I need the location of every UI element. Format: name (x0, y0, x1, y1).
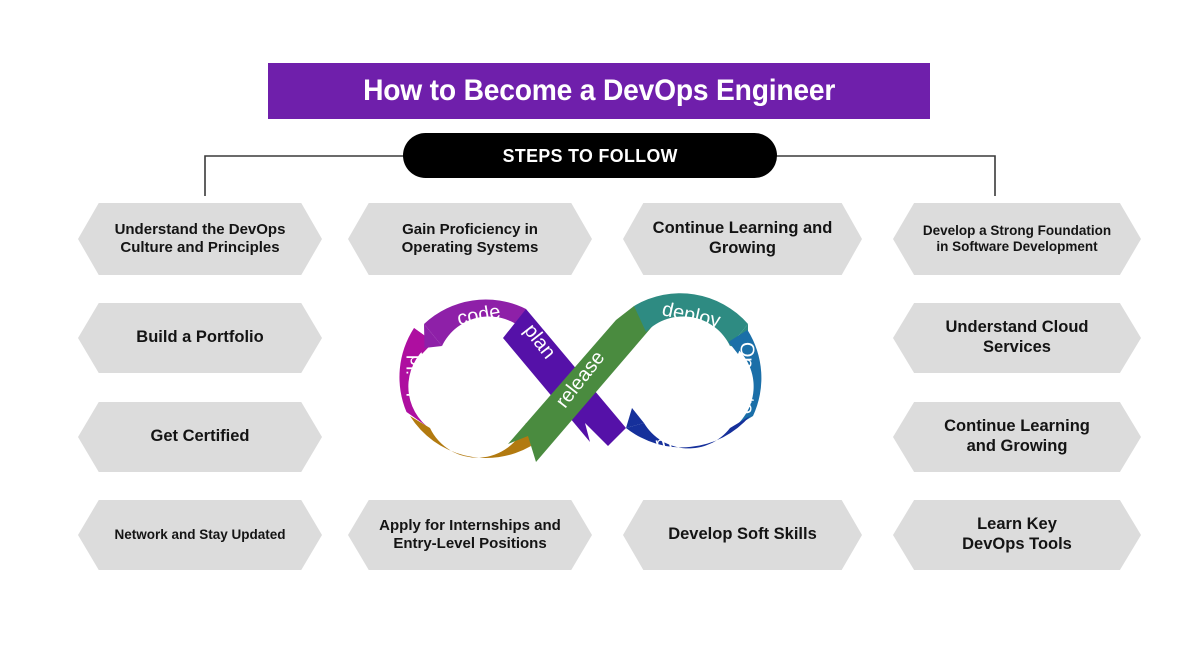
hexagon-develop-strong-foundation[interactable]: Develop a Strong Foundation in Software … (893, 203, 1141, 275)
hexagon-label: Learn Key DevOps Tools (962, 515, 1072, 555)
hexagon-continue-learning-growing-top[interactable]: Continue Learning and Growing (623, 203, 862, 275)
hexagon-understand-cloud-services[interactable]: Understand Cloud Services (893, 303, 1141, 373)
hexagon-understand-devops-culture[interactable]: Understand the DevOps Culture and Princi… (78, 203, 322, 275)
loop-label-operate: Operate (736, 342, 758, 414)
loop-segment-monitor: monitor (626, 408, 750, 456)
steps-to-follow-label: STEPS TO FOLLOW (502, 145, 677, 167)
hexagon-label: Develop a Strong Foundation in Software … (923, 223, 1111, 255)
connector-line-left (205, 156, 420, 196)
hexagon-continue-learning-growing-right[interactable]: Continue Learning and Growing (893, 402, 1141, 472)
hexagon-label: Gain Proficiency in Operating Systems (402, 221, 539, 257)
loop-label-monitor: monitor (653, 418, 723, 456)
steps-to-follow-pill: STEPS TO FOLLOW (403, 133, 777, 178)
hexagon-network-stay-updated[interactable]: Network and Stay Updated (78, 500, 322, 570)
page-title: How to Become a DevOps Engineer (363, 74, 835, 108)
hexagon-label: Get Certified (150, 427, 249, 447)
hexagon-gain-proficiency-os[interactable]: Gain Proficiency in Operating Systems (348, 203, 592, 275)
title-banner: How to Become a DevOps Engineer (268, 63, 930, 119)
hexagon-label: Apply for Internships and Entry-Level Po… (379, 517, 561, 553)
hexagon-label: Understand Cloud Services (946, 318, 1089, 358)
hexagon-label: Continue Learning and Growing (944, 417, 1090, 457)
hexagon-build-a-portfolio[interactable]: Build a Portfolio (78, 303, 322, 373)
hexagon-develop-soft-skills[interactable]: Develop Soft Skills (623, 500, 862, 570)
hexagon-label: Build a Portfolio (136, 328, 263, 348)
hexagon-label: Network and Stay Updated (114, 527, 285, 543)
hexagon-learn-key-devops-tools[interactable]: Learn Key DevOps Tools (893, 500, 1141, 570)
devops-infinity-loop: build code test plan release (376, 276, 784, 476)
hexagon-apply-internships[interactable]: Apply for Internships and Entry-Level Po… (348, 500, 592, 570)
loop-label-test: test (463, 427, 497, 452)
loop-segment-operate: Operate (729, 330, 762, 428)
loop-segment-deploy: deploy (634, 293, 748, 348)
connector-line-right (760, 156, 995, 196)
infographic-canvas: How to Become a DevOps Engineer STEPS TO… (0, 0, 1200, 650)
loop-label-build: build (404, 355, 426, 397)
hexagon-label: Continue Learning and Growing (653, 219, 833, 259)
hexagon-label: Understand the DevOps Culture and Princi… (115, 221, 286, 257)
hexagon-get-certified[interactable]: Get Certified (78, 402, 322, 472)
hexagon-label: Develop Soft Skills (668, 525, 817, 545)
